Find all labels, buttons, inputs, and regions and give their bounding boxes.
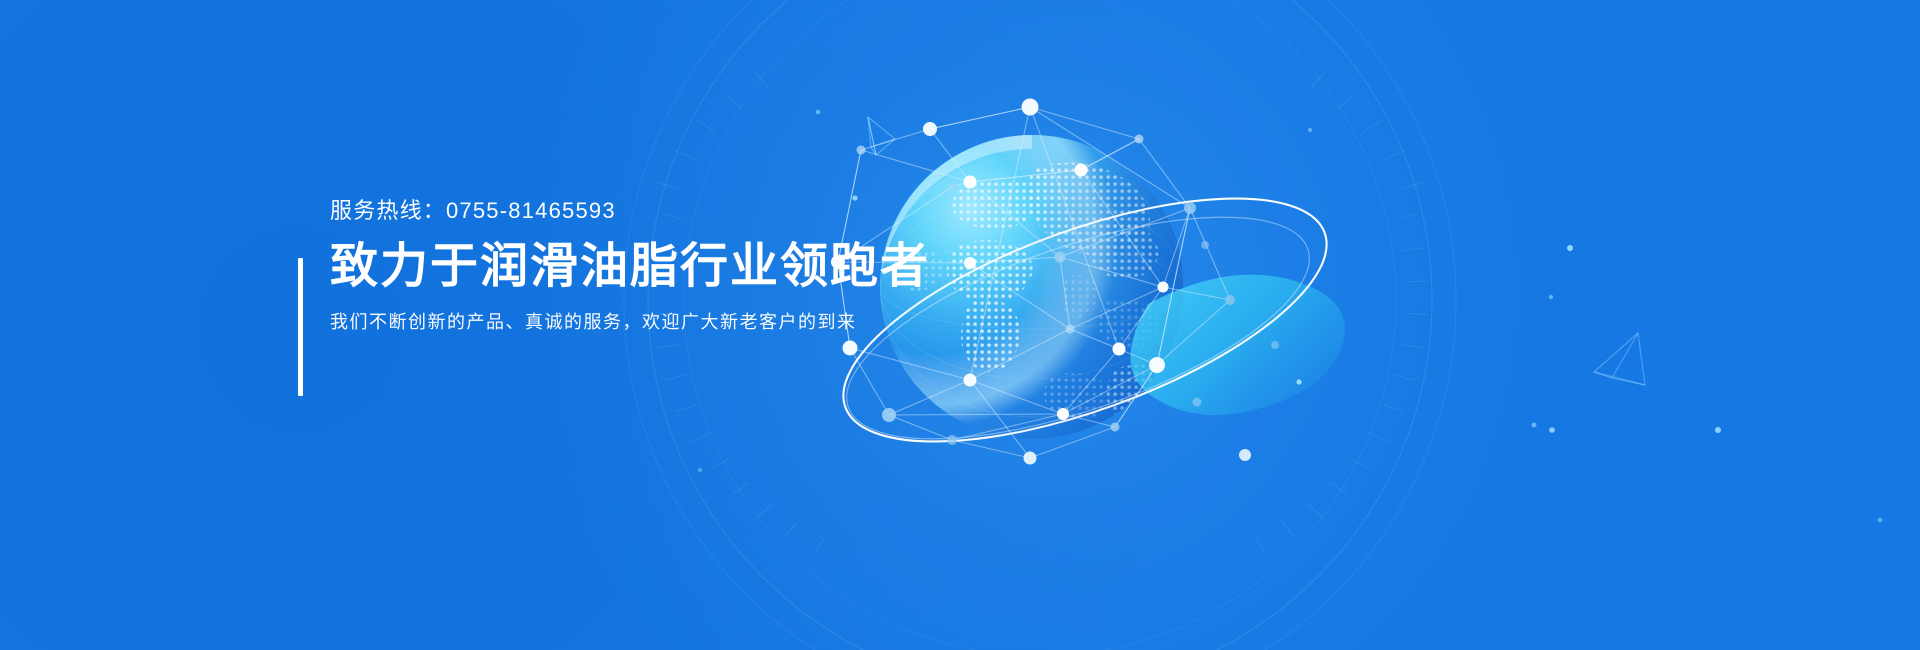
accent-bar [298, 258, 303, 396]
wireframe-pyramid [868, 117, 895, 155]
wireframe-pyramid [1594, 333, 1645, 385]
page-subtitle: 我们不断创新的产品、真诚的服务，欢迎广大新老客户的到来 [330, 308, 1085, 336]
service-hotline: 服务热线：0755-81465593 [330, 196, 1085, 226]
hero-banner: 服务热线：0755-81465593 致力于润滑油脂行业领跑者 我们不断创新的产… [0, 0, 1920, 650]
hero-text-block: 服务热线：0755-81465593 致力于润滑油脂行业领跑者 我们不断创新的产… [265, 196, 1085, 336]
page-title: 致力于润滑油脂行业领跑者 [330, 236, 1085, 298]
